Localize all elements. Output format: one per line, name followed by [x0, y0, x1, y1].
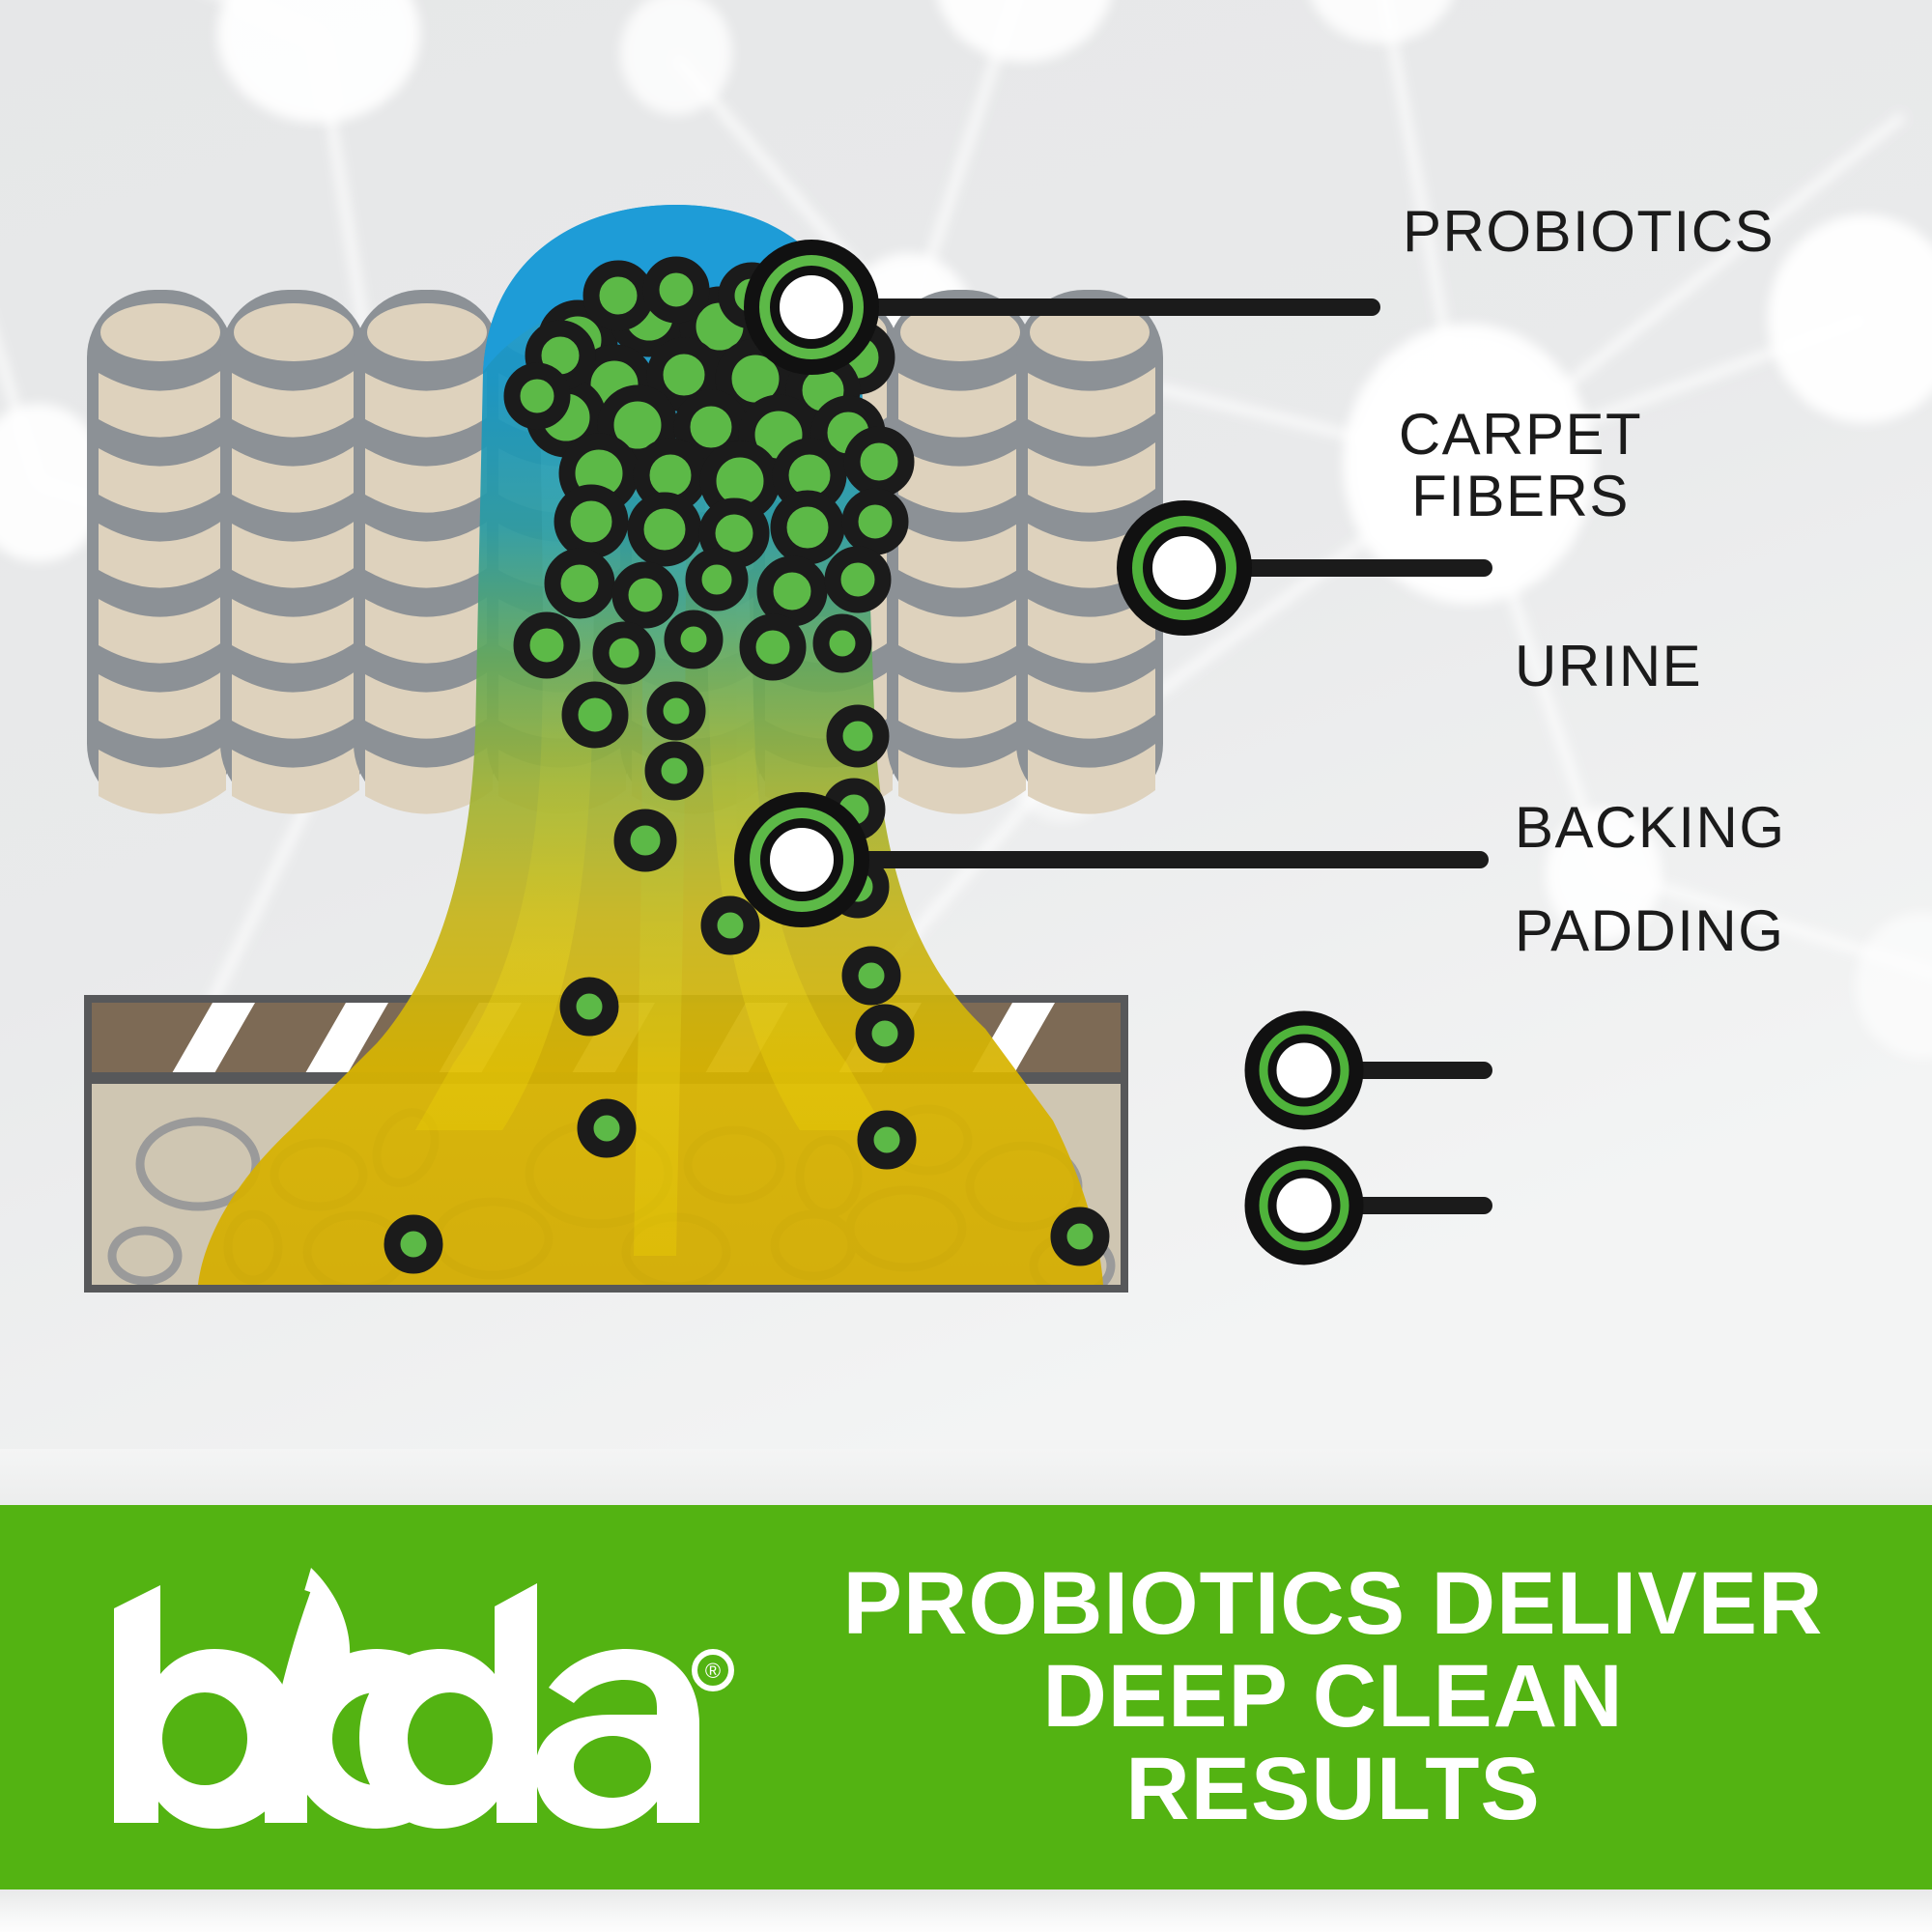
callout-label-carpet-fibers: CARPET FIBERS — [1399, 404, 1642, 526]
callout-label-padding: PADDING — [1515, 900, 1784, 962]
brand-banner: ® bioda PROBIOTICS DELIVER DEEP CLEAN RE… — [0, 1505, 1932, 1889]
infographic-root: PROBIOTICS CARPET FIBERS URINE BACKING P… — [0, 0, 1932, 1932]
registered-mark-glyph: ® — [705, 1659, 721, 1683]
callout-label-urine: URINE — [1515, 636, 1702, 697]
callout-label-backing: BACKING — [1515, 797, 1786, 859]
callout-padding[interactable] — [1252, 1153, 1484, 1258]
banner-tagline: PROBIOTICS DELIVER DEEP CLEAN RESULTS — [792, 1558, 1932, 1835]
callout-backing[interactable] — [1252, 1018, 1484, 1122]
callout-urine[interactable] — [742, 800, 1480, 920]
callout-label-probiotics: PROBIOTICS — [1403, 201, 1775, 263]
illustration-panel: PROBIOTICS CARPET FIBERS URINE BACKING P… — [0, 0, 1932, 1449]
bottom-strip — [0, 1889, 1932, 1932]
bioda-wordmark-icon: ® — [58, 1552, 734, 1842]
bioda-logo: ® bioda — [0, 1505, 792, 1889]
panel-divider — [0, 1449, 1932, 1505]
